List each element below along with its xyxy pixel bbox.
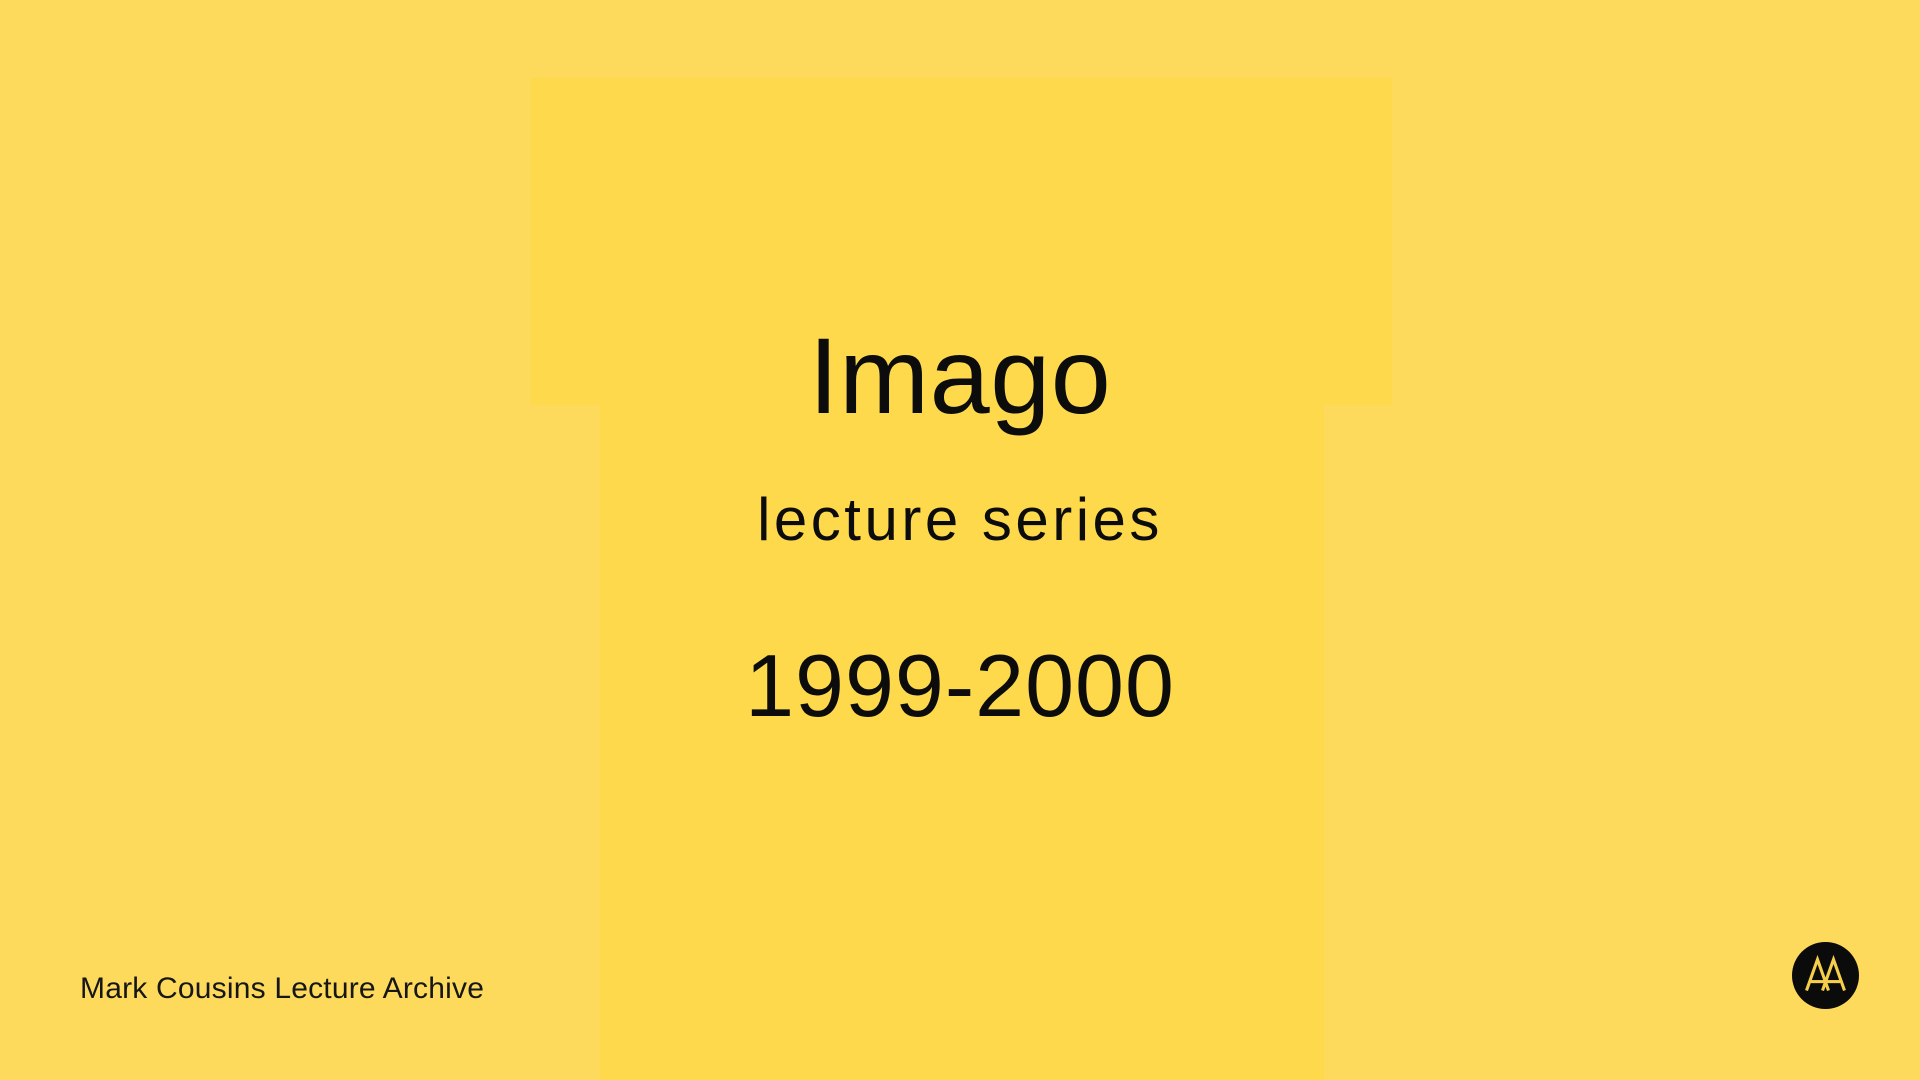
archive-caption: Mark Cousins Lecture Archive <box>80 974 484 1004</box>
logo-disc-shape <box>1792 942 1859 1009</box>
slide-canvas: Imago lecture series 1999-2000 Mark Cous… <box>0 0 1920 1080</box>
slide-subtitle: lecture series <box>0 490 1920 550</box>
slide-title: Imago <box>0 322 1920 430</box>
aa-logo <box>1792 942 1859 1009</box>
title-block: Imago lecture series 1999-2000 <box>0 0 1920 1080</box>
slide-year-range: 1999-2000 <box>0 642 1920 730</box>
